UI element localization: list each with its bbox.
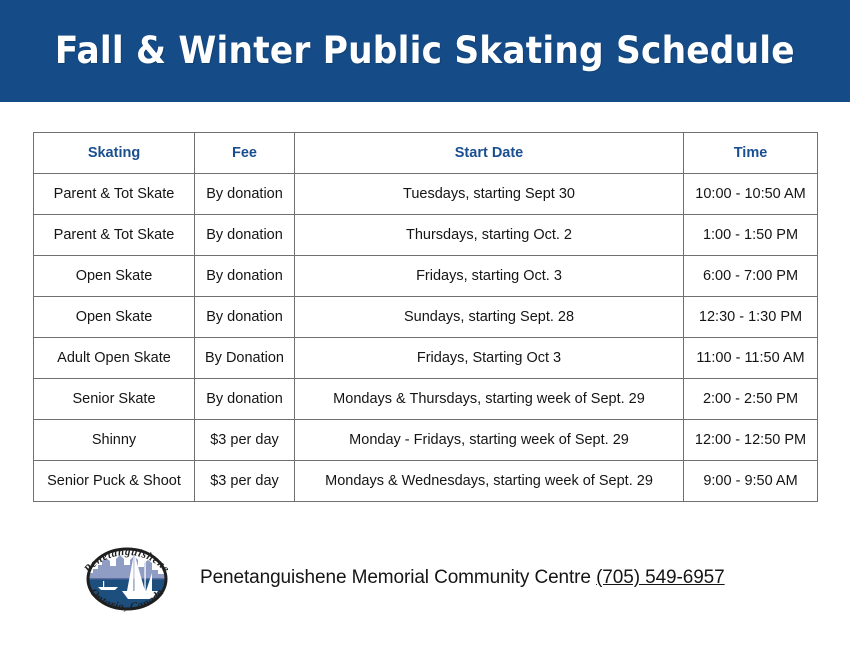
table-row: Open Skate By donation Sundays, starting…: [34, 297, 818, 338]
table-row: Parent & Tot Skate By donation Thursdays…: [34, 215, 818, 256]
cell-start-date: Mondays & Thursdays, starting week of Se…: [295, 379, 684, 420]
column-header-skating: Skating: [34, 133, 195, 174]
cell-skating: Open Skate: [34, 297, 195, 338]
table-row: Adult Open Skate By Donation Fridays, St…: [34, 338, 818, 379]
page-header-banner: Fall & Winter Public Skating Schedule: [0, 0, 850, 102]
cell-start-date: Tuesdays, starting Sept 30: [295, 174, 684, 215]
cell-time: 9:00 - 9:50 AM: [684, 461, 818, 502]
cell-start-date: Mondays & Wednesdays, starting week of S…: [295, 461, 684, 502]
cell-skating: Parent & Tot Skate: [34, 174, 195, 215]
cell-fee: $3 per day: [195, 461, 295, 502]
table-row: Shinny $3 per day Monday - Fridays, star…: [34, 420, 818, 461]
column-header-start-date: Start Date: [295, 133, 684, 174]
cell-start-date: Sundays, starting Sept. 28: [295, 297, 684, 338]
cell-skating: Senior Puck & Shoot: [34, 461, 195, 502]
cell-time: 10:00 - 10:50 AM: [684, 174, 818, 215]
cell-fee: $3 per day: [195, 420, 295, 461]
cell-fee: By donation: [195, 297, 295, 338]
cell-fee: By Donation: [195, 338, 295, 379]
page-title: Fall & Winter Public Skating Schedule: [55, 31, 795, 72]
venue-name: Penetanguishene Memorial Community Centr…: [200, 567, 591, 588]
table-row: Open Skate By donation Fridays, starting…: [34, 256, 818, 297]
cell-time: 11:00 - 11:50 AM: [684, 338, 818, 379]
cell-fee: By donation: [195, 256, 295, 297]
cell-skating: Shinny: [34, 420, 195, 461]
table-header-row: Skating Fee Start Date Time: [34, 133, 818, 174]
cell-fee: By donation: [195, 379, 295, 420]
cell-time: 2:00 - 2:50 PM: [684, 379, 818, 420]
footer: Penetanguishene Ontario, Canada Penetang…: [0, 523, 850, 633]
footer-contact-line: Penetanguishene Memorial Community Centr…: [200, 567, 725, 589]
schedule-table-container: Skating Fee Start Date Time Parent & Tot…: [33, 132, 817, 502]
cell-start-date: Fridays, Starting Oct 3: [295, 338, 684, 379]
cell-start-date: Fridays, starting Oct. 3: [295, 256, 684, 297]
table-row: Senior Skate By donation Mondays & Thurs…: [34, 379, 818, 420]
cell-skating: Senior Skate: [34, 379, 195, 420]
cell-skating: Parent & Tot Skate: [34, 215, 195, 256]
cell-time: 12:30 - 1:30 PM: [684, 297, 818, 338]
table-row: Senior Puck & Shoot $3 per day Mondays &…: [34, 461, 818, 502]
penetanguishene-town-crest-icon: Penetanguishene Ontario, Canada: [72, 529, 182, 627]
cell-time: 6:00 - 7:00 PM: [684, 256, 818, 297]
column-header-fee: Fee: [195, 133, 295, 174]
cell-fee: By donation: [195, 215, 295, 256]
cell-start-date: Thursdays, starting Oct. 2: [295, 215, 684, 256]
phone-number-link[interactable]: (705) 549-6957: [596, 567, 725, 588]
table-row: Parent & Tot Skate By donation Tuesdays,…: [34, 174, 818, 215]
cell-skating: Open Skate: [34, 256, 195, 297]
cell-start-date: Monday - Fridays, starting week of Sept.…: [295, 420, 684, 461]
cell-time: 1:00 - 1:50 PM: [684, 215, 818, 256]
skating-schedule-table: Skating Fee Start Date Time Parent & Tot…: [33, 132, 818, 502]
column-header-time: Time: [684, 133, 818, 174]
cell-skating: Adult Open Skate: [34, 338, 195, 379]
cell-time: 12:00 - 12:50 PM: [684, 420, 818, 461]
cell-fee: By donation: [195, 174, 295, 215]
